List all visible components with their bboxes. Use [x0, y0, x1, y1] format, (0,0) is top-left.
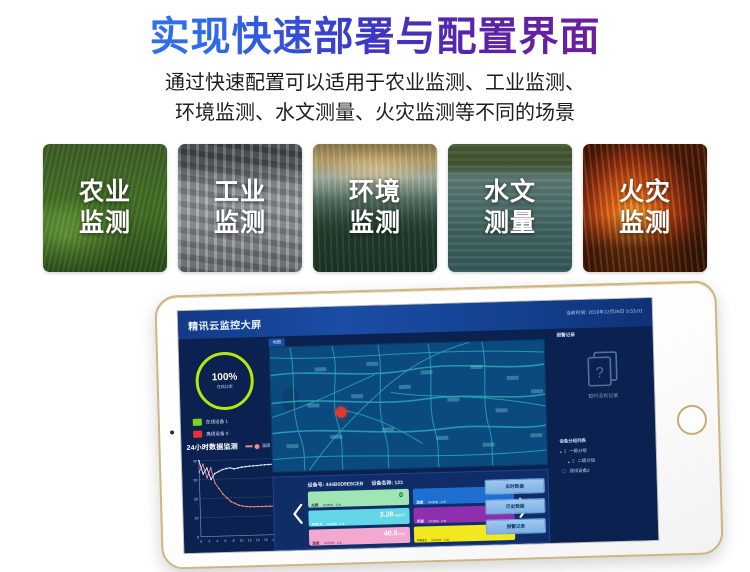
scene-label-line2: 监测 — [619, 208, 671, 239]
tile-value: 0 — [399, 492, 404, 499]
tile-value: 3.28ug/m3 — [380, 511, 405, 519]
scene-card-label: 工业 监测 — [178, 144, 302, 272]
front-camera-icon — [170, 430, 174, 434]
tile-sub: 实时数据 · 正常 — [327, 523, 345, 526]
scene-card-environment[interactable]: 环境 监测 — [313, 144, 437, 272]
tablet-device-frame: 精讯云监控大屏 当前时间: 2019年12月26日 9:53:01 100% 在… — [154, 280, 723, 570]
dashboard-body: 100% 在线比率 在线设备 1 离线设备 0 — [179, 326, 659, 553]
tree-node-label: 二级分组 — [577, 458, 595, 464]
scene-label-line1: 工业 — [214, 177, 266, 208]
dashboard-right-column: 报警记录 ? 暂时没有记录 设备分组列表 ▾ ▯ — [550, 326, 658, 543]
svg-text:0: 0 — [197, 535, 199, 539]
tile-value: 40.5%rh — [384, 530, 405, 538]
online-swatch — [193, 419, 202, 426]
device-action-buttons: 实时数据 历史数据 报警记录 — [485, 478, 545, 540]
home-button[interactable] — [677, 405, 708, 436]
sensor-tile-humidity[interactable]: 湿度 实时数据 · 正常 40.5%rh — [309, 527, 410, 546]
gauge-caption: 在线比率 — [217, 384, 233, 390]
history-data-button[interactable]: 历史数据 — [485, 498, 545, 515]
tile-sub: 实时数据 · 正常 — [323, 504, 341, 507]
tile-labels: PM10 实时数据 · 正常 — [417, 528, 449, 547]
device-icon: ▢ — [562, 468, 566, 474]
svg-text:40: 40 — [193, 459, 197, 463]
legend-label: 在线设备 1 — [206, 418, 228, 425]
device-name: 设备名称: 123 — [371, 479, 403, 487]
chart-legend-item-temperature[interactable]: 温度 — [246, 443, 271, 450]
dashboard-timestamp: 当前时间: 2019年12月26日 9:53:01 — [566, 308, 643, 316]
offline-swatch — [193, 431, 202, 438]
svg-text:4: 4 — [216, 539, 218, 543]
chevron-down-icon[interactable]: ▾ — [560, 449, 562, 454]
tile-sub: 实时数据 · 正常 — [324, 542, 342, 545]
tree-node-level2[interactable]: ▸ ▯ 二级分组 — [560, 456, 652, 465]
scene-label-line1: 火灾 — [619, 177, 671, 208]
page-subtitle-line1: 通过快速配置可以适用于农业监测、工业监测、 — [0, 68, 750, 98]
tile-name: 光照 — [311, 503, 318, 507]
sensor-tile-illuminance[interactable]: 光照 实时数据 · 正常 0 — [308, 489, 409, 508]
legend-item-online: 在线设备 1 — [193, 418, 228, 426]
device-header: 设备号: 444B0D9E8CEB 设备名称: 123 — [308, 479, 403, 489]
tile-labels: 风速 实时数据 · 正常 — [416, 509, 446, 528]
scene-card-hydrology[interactable]: 水文 测量 — [448, 144, 572, 272]
scene-card-fire[interactable]: 火灾 监测 — [583, 144, 707, 272]
dashboard-title: 精讯云监控大屏 — [188, 316, 262, 333]
tile-number: 40.5 — [384, 530, 398, 537]
svg-text:0: 0 — [200, 540, 202, 544]
scene-card-agriculture[interactable]: 农业 监测 — [43, 144, 167, 272]
device-status-legend: 在线设备 1 离线设备 0 — [193, 418, 229, 443]
svg-text:10: 10 — [240, 539, 244, 543]
tile-sub: 实时数据 · 正常 — [428, 501, 446, 504]
tile-name: PM2.5 — [312, 522, 322, 526]
prev-device-button[interactable] — [292, 503, 305, 525]
scene-card-industry[interactable]: 工业 监测 — [178, 144, 302, 272]
svg-text:6: 6 — [224, 539, 226, 543]
tile-name: PM10 — [417, 538, 426, 542]
scene-label-line2: 测量 — [484, 208, 536, 239]
scene-label-line2: 监测 — [214, 208, 266, 239]
device-id: 设备号: 444B0D9E8CEB — [308, 480, 364, 489]
document-question-icon: ? — [585, 349, 620, 388]
tree-node-device[interactable]: ▢ 测试设备2 — [560, 466, 652, 475]
svg-text:?: ? — [595, 364, 604, 381]
page-subtitle-line2: 环境监测、水文测量、火灾监测等不同的场景 — [0, 98, 750, 128]
legend-label: 离线设备 0 — [206, 430, 228, 437]
alarm-records-title: 报警记录 — [556, 332, 575, 339]
tile-labels: 温度 实时数据 · 正常 — [416, 490, 446, 509]
realtime-data-button[interactable]: 实时数据 — [485, 478, 545, 495]
legend-item-offline: 离线设备 0 — [193, 430, 228, 438]
scene-label-line2: 监测 — [79, 208, 131, 239]
tile-name: 湿度 — [312, 541, 319, 545]
scene-label-line1: 农业 — [79, 177, 131, 208]
dashboard-left-column: 100% 在线比率 在线设备 1 离线设备 0 — [179, 337, 269, 553]
scene-card-label: 环境 监测 — [313, 144, 437, 272]
svg-text:2: 2 — [208, 539, 210, 543]
gauge-percent: 100% — [212, 372, 238, 384]
page-subtitle: 通过快速配置可以适用于农业监测、工业监测、 环境监测、水文测量、火灾监测等不同的… — [0, 68, 750, 128]
tile-sub: 实时数据 · 正常 — [428, 520, 446, 523]
tile-unit: %rh — [399, 532, 406, 536]
tile-labels: PM2.5 实时数据 · 正常 — [311, 512, 344, 531]
tile-number: 3.28 — [380, 511, 394, 518]
alarm-records-button[interactable]: 报警记录 — [486, 518, 546, 535]
scene-label-line1: 水文 — [484, 177, 536, 208]
alarm-empty-text: 暂时没有记录 — [588, 392, 618, 400]
page-title: 实现快速部署与配置界面 — [0, 10, 750, 64]
scene-card-label: 火灾 监测 — [583, 144, 707, 272]
svg-text:30: 30 — [193, 478, 197, 482]
dashboard-center-column: 地图 设备号: 444B0D9E8CEB 设备名称: 123 — [266, 329, 552, 551]
scene-card-row: 农业 监测 工业 监测 环境 监测 水文 测量 火灾 监测 — [43, 144, 707, 272]
tablet-screen: 精讯云监控大屏 当前时间: 2019年12月26日 9:53:01 100% 在… — [178, 298, 659, 553]
sensor-tile-row: 光照 实时数据 · 正常 0 温度 — [308, 486, 514, 508]
device-map[interactable] — [269, 339, 548, 473]
tile-number: 0 — [399, 492, 403, 499]
tree-node-label: 测试设备2 — [569, 468, 589, 475]
tile-name: 温度 — [416, 500, 423, 504]
device-group-tree: 设备分组列表 ▾ ▯ 一级分组 ▸ ▯ 二级分组 ▢ — [559, 436, 652, 479]
scene-card-label: 农业 监测 — [43, 144, 167, 272]
svg-text:16: 16 — [264, 538, 268, 542]
tree-node-level1[interactable]: ▾ ▯ 一级分组 — [560, 446, 652, 455]
svg-text:20: 20 — [194, 497, 198, 501]
tile-sub: 实时数据 · 正常 — [431, 539, 449, 542]
svg-text:10: 10 — [194, 516, 198, 520]
tree-node-label: 一级分组 — [569, 448, 587, 454]
alarm-empty-state: ? 暂时没有记录 — [551, 348, 654, 401]
series-marker-icon — [255, 444, 260, 449]
scene-label-line2: 监测 — [349, 208, 401, 239]
svg-text:8: 8 — [233, 539, 235, 543]
folder-icon: ▯ — [564, 448, 567, 454]
scene-card-label: 水文 测量 — [448, 144, 572, 272]
scene-label-line1: 环境 — [349, 177, 401, 208]
tile-name: 风速 — [417, 519, 424, 523]
online-rate-gauge: 100% 在线比率 — [195, 351, 255, 411]
device-detail-panel: 设备号: 444B0D9E8CEB 设备名称: 123 — [272, 469, 550, 551]
tile-unit: ug/m3 — [394, 513, 404, 517]
device-group-tree-title: 设备分组列表 — [559, 436, 651, 445]
sensor-tile-pm25[interactable]: PM2.5 实时数据 · 正常 3.28ug/m3 — [308, 508, 409, 527]
tablet-mockup: 精讯云监控大屏 当前时间: 2019年12月26日 9:53:01 100% 在… — [150, 286, 750, 572]
tile-labels: 光照 实时数据 · 正常 — [311, 493, 341, 512]
svg-text:12: 12 — [248, 538, 252, 542]
tile-labels: 湿度 实时数据 · 正常 — [312, 531, 342, 550]
svg-text:14: 14 — [256, 538, 260, 542]
chart-title: 24小时数据监测 — [186, 442, 238, 453]
chevron-right-icon[interactable]: ▸ — [568, 459, 570, 464]
series-color-swatch — [246, 446, 253, 448]
folder-icon: ▯ — [572, 458, 575, 464]
